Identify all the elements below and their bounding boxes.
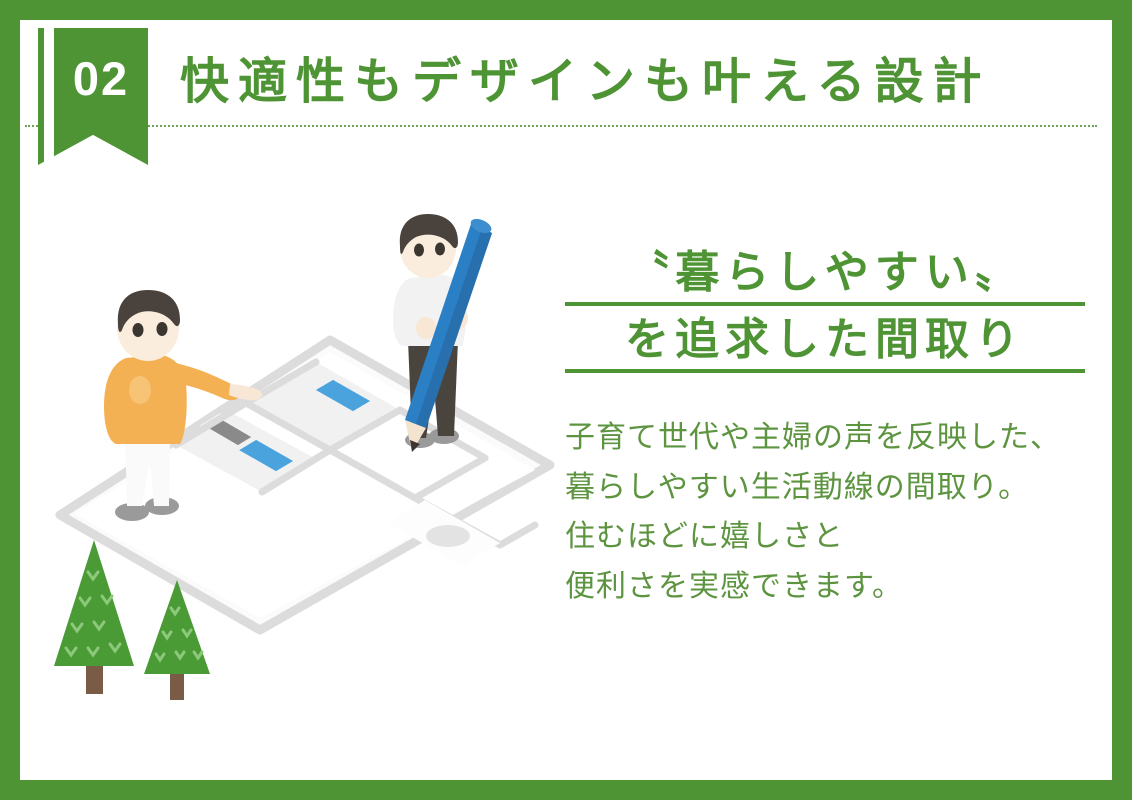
lead-heading-line-1: 〝暮らしやすい〟	[565, 245, 1085, 306]
left-eye	[133, 323, 144, 337]
body-copy-line: 子育て世代や主婦の声を反映した、	[565, 413, 1085, 463]
right-eye	[157, 322, 168, 336]
body-copy-line: 便利さを実感できます。	[565, 562, 1085, 612]
ribbon-slit	[44, 28, 54, 165]
tree-small-trunk	[170, 670, 184, 700]
pencil-person-left-eye	[414, 244, 424, 257]
page-title: 快適性もデザインも叶える設計	[180, 58, 991, 107]
pencil-person-right-eye	[435, 243, 445, 256]
header: 02 快適性もデザインも叶える設計	[20, 20, 1112, 165]
header-dotted-divider	[25, 125, 1097, 127]
section-number: 02	[54, 28, 148, 128]
pencil-person-lower-hand	[416, 317, 436, 339]
body-copy-line: 暮らしやすい生活動線の間取り。	[565, 463, 1085, 513]
coat-highlight	[129, 376, 151, 404]
section-number-ribbon: 02	[38, 28, 148, 165]
body-copy: 子育て世代や主婦の声を反映した、 暮らしやすい生活動線の間取り。 住むほどに嬉し…	[565, 413, 1085, 611]
lead-heading-line-2: を追求した間取り	[565, 312, 1085, 373]
illustration	[30, 200, 560, 720]
plan-fixture-blob	[426, 525, 470, 547]
page-frame: 02 快適性もデザインも叶える設計	[20, 20, 1112, 780]
body-copy-line: 住むほどに嬉しさと	[565, 512, 1085, 562]
pine-tree-large	[54, 540, 134, 694]
content-column: 〝暮らしやすい〟 を追求した間取り 子育て世代や主婦の声を反映した、 暮らしやす…	[565, 245, 1085, 611]
